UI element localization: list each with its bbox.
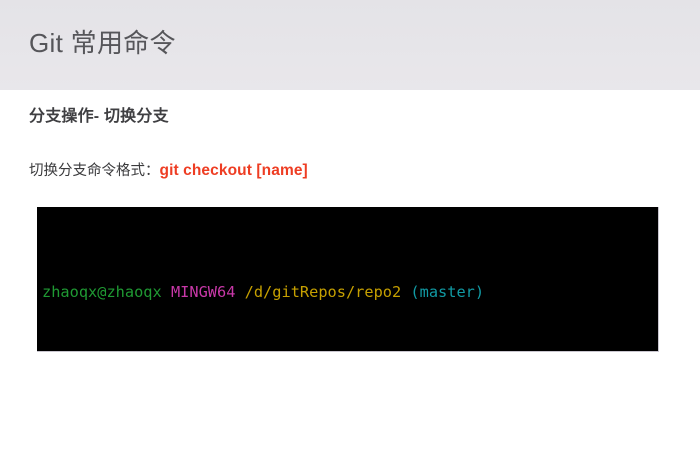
terminal-branch: (master) [410, 283, 484, 301]
git-command-highlight: git checkout [name] [160, 162, 308, 179]
terminal-host: MINGW64 [171, 283, 235, 301]
section-subtitle: 分支操作- 切换分支 [29, 102, 169, 126]
terminal-user: zhaoqx@zhaoqx [42, 283, 162, 301]
command-format-line: 切换分支命令格式：git checkout [name] [29, 160, 308, 182]
terminal-content: zhaoqx@zhaoqx MINGW64 /d/gitRepos/repo2 … [42, 219, 658, 352]
terminal-path: /d/gitRepos/repo2 [245, 283, 402, 301]
terminal-prompt-line: zhaoqx@zhaoqx MINGW64 /d/gitRepos/repo2 … [42, 282, 658, 303]
slide-background: Git 常用命令 分支操作- 切换分支 切换分支命令格式：git checkou… [0, 0, 700, 449]
command-format-label: 切换分支命令格式： [29, 163, 160, 179]
page-title: Git 常用命令 [29, 28, 176, 59]
terminal-screenshot: zhaoqx@zhaoqx MINGW64 /d/gitRepos/repo2 … [37, 207, 659, 352]
